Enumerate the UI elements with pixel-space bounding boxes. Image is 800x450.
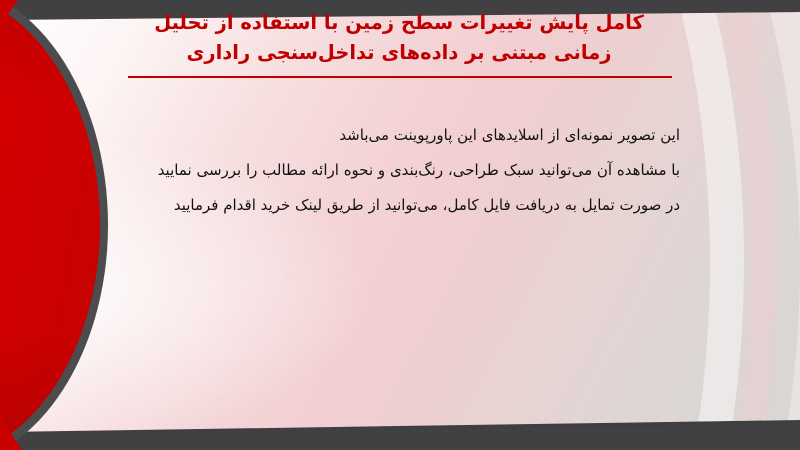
slide-body-line-1: این تصویر نمونه‌ای از اسلایدهای این پاور… [120,118,680,153]
slide-body-line-2: با مشاهده آن می‌توانید سبک طراحی، رنگ‌بن… [120,153,680,188]
slide-title-line-1: کامل پایش تغییرات سطح زمین با استفاده از… [126,8,672,38]
slide-title-line-2: زمانی مبتنی بر داده‌های تداخل‌سنجی رادار… [126,38,672,68]
slide-body: این تصویر نمونه‌ای از اسلایدهای این پاور… [120,118,680,223]
slide-body-line-3: در صورت تمایل به دریافت فایل کامل، می‌تو… [120,188,680,223]
slide-title: کامل پایش تغییرات سطح زمین با استفاده از… [126,8,672,68]
presentation-slide: کامل پایش تغییرات سطح زمین با استفاده از… [0,0,800,450]
title-underline [128,76,672,78]
